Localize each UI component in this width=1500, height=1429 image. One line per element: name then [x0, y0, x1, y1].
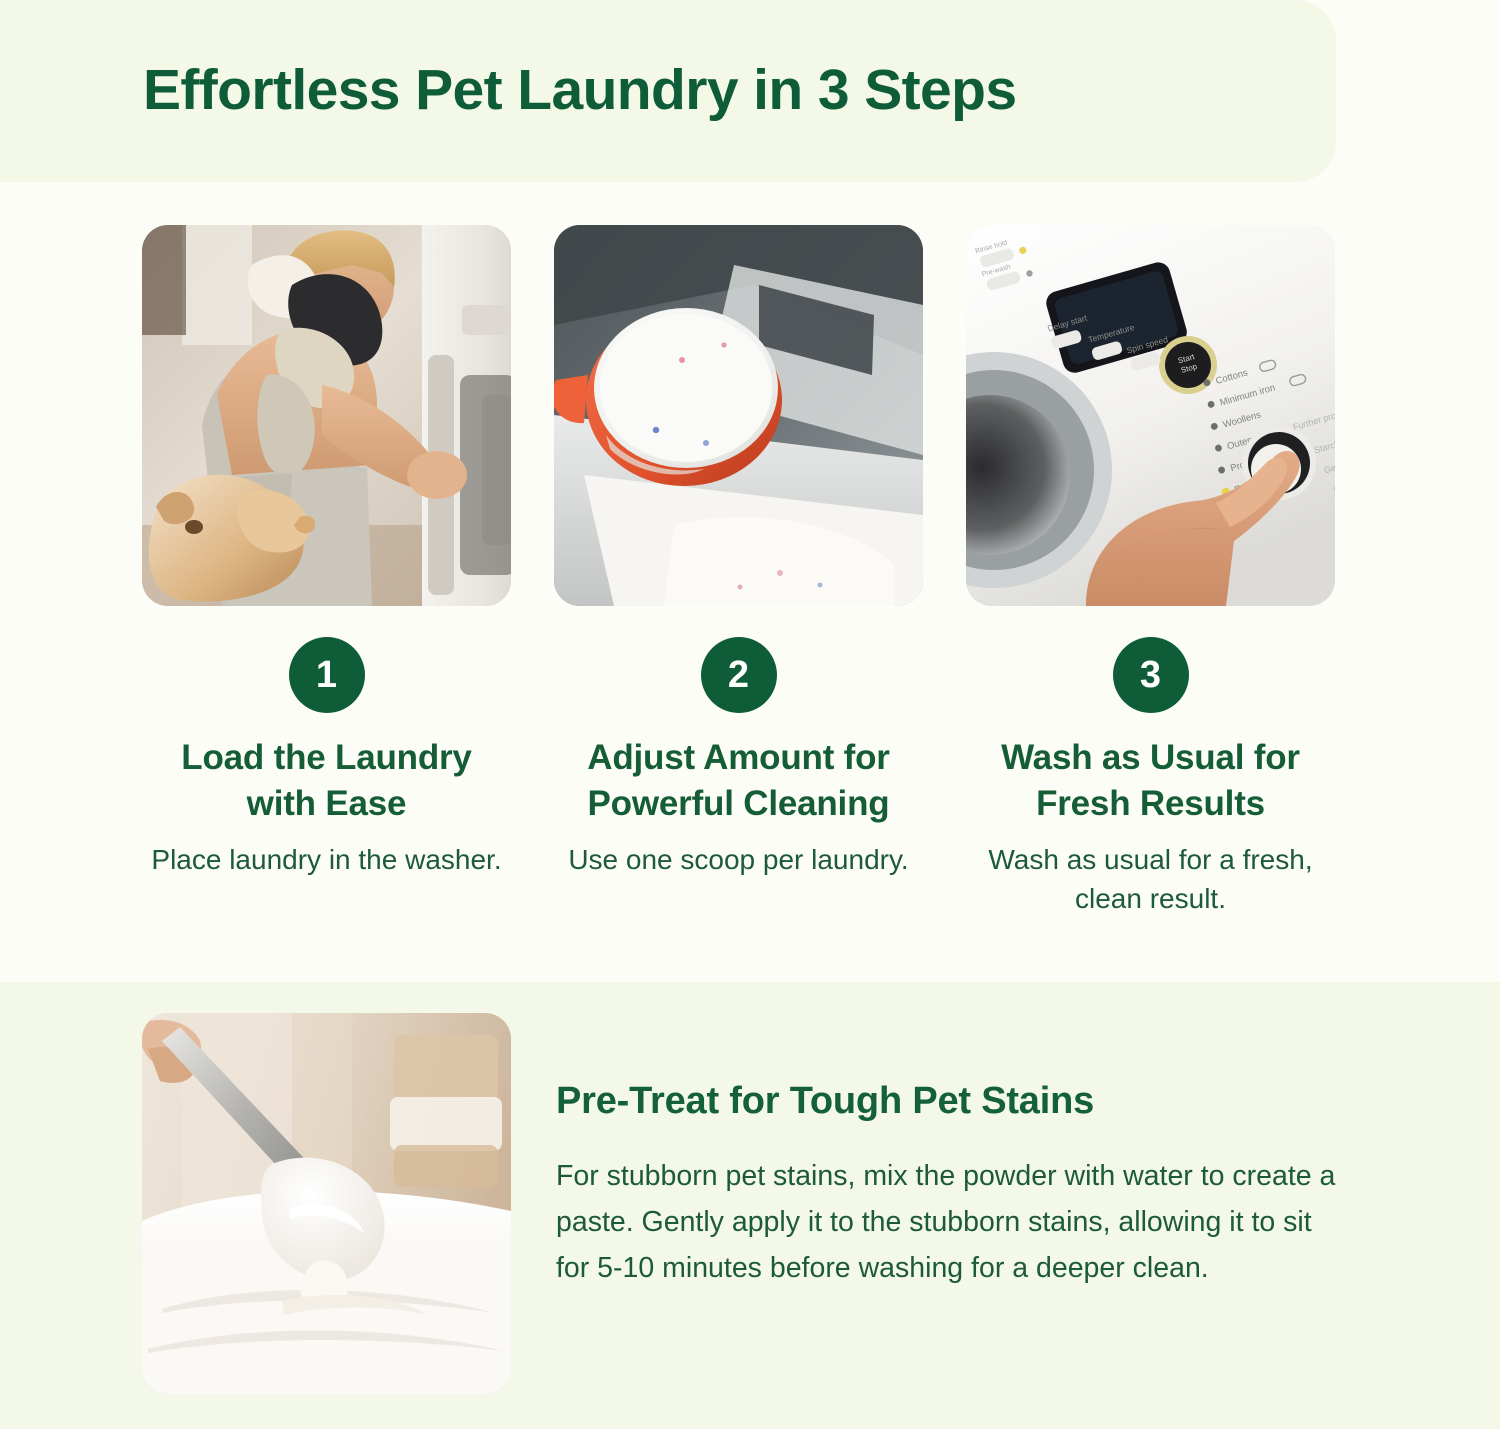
pre-treat-inner: Pre-Treat for Tough Pet Stains For stubb… [142, 1013, 1346, 1394]
step-title-3: Wash as Usual for Fresh Results [971, 735, 1331, 827]
infographic-page: Effortless Pet Laundry in 3 Steps [0, 0, 1500, 1429]
paste-on-towel-photo [142, 1013, 511, 1394]
pre-treat-text: Pre-Treat for Tough Pet Stains For stubb… [556, 1013, 1346, 1394]
pre-treat-body: For stubborn pet stains, mix the powder … [556, 1153, 1346, 1291]
step-number-badge-2: 2 [701, 637, 777, 713]
page-title: Effortless Pet Laundry in 3 Steps [143, 61, 1016, 121]
step-description-1: Place laundry in the washer. [151, 841, 501, 880]
step-description-3: Wash as usual for a fresh, clean result. [971, 841, 1331, 918]
header-banner: Effortless Pet Laundry in 3 Steps [0, 0, 1336, 182]
step-card-2: 2 Adjust Amount for Powerful Cleaning Us… [554, 225, 923, 919]
pre-treat-section: Pre-Treat for Tough Pet Stains For stubb… [0, 982, 1500, 1429]
step-number-badge-3: 3 [1113, 637, 1189, 713]
pre-treat-title: Pre-Treat for Tough Pet Stains [556, 1079, 1346, 1125]
step-title-1: Load the Laundry with Ease [147, 735, 507, 827]
step-card-3: Start Stop Rinse hold Pre-wash Del [966, 225, 1335, 919]
step-card-1: 1 Load the Laundry with Ease Place laund… [142, 225, 511, 919]
steps-row: 1 Load the Laundry with Ease Place laund… [142, 225, 1336, 919]
step-number-badge-1: 1 [289, 637, 365, 713]
step-description-2: Use one scoop per laundry. [568, 841, 908, 880]
child-loading-washer-photo [142, 225, 511, 606]
washer-dial-photo: Start Stop Rinse hold Pre-wash Del [966, 225, 1335, 606]
step-title-2: Adjust Amount for Powerful Cleaning [559, 735, 919, 827]
detergent-scoop-photo [554, 225, 923, 606]
